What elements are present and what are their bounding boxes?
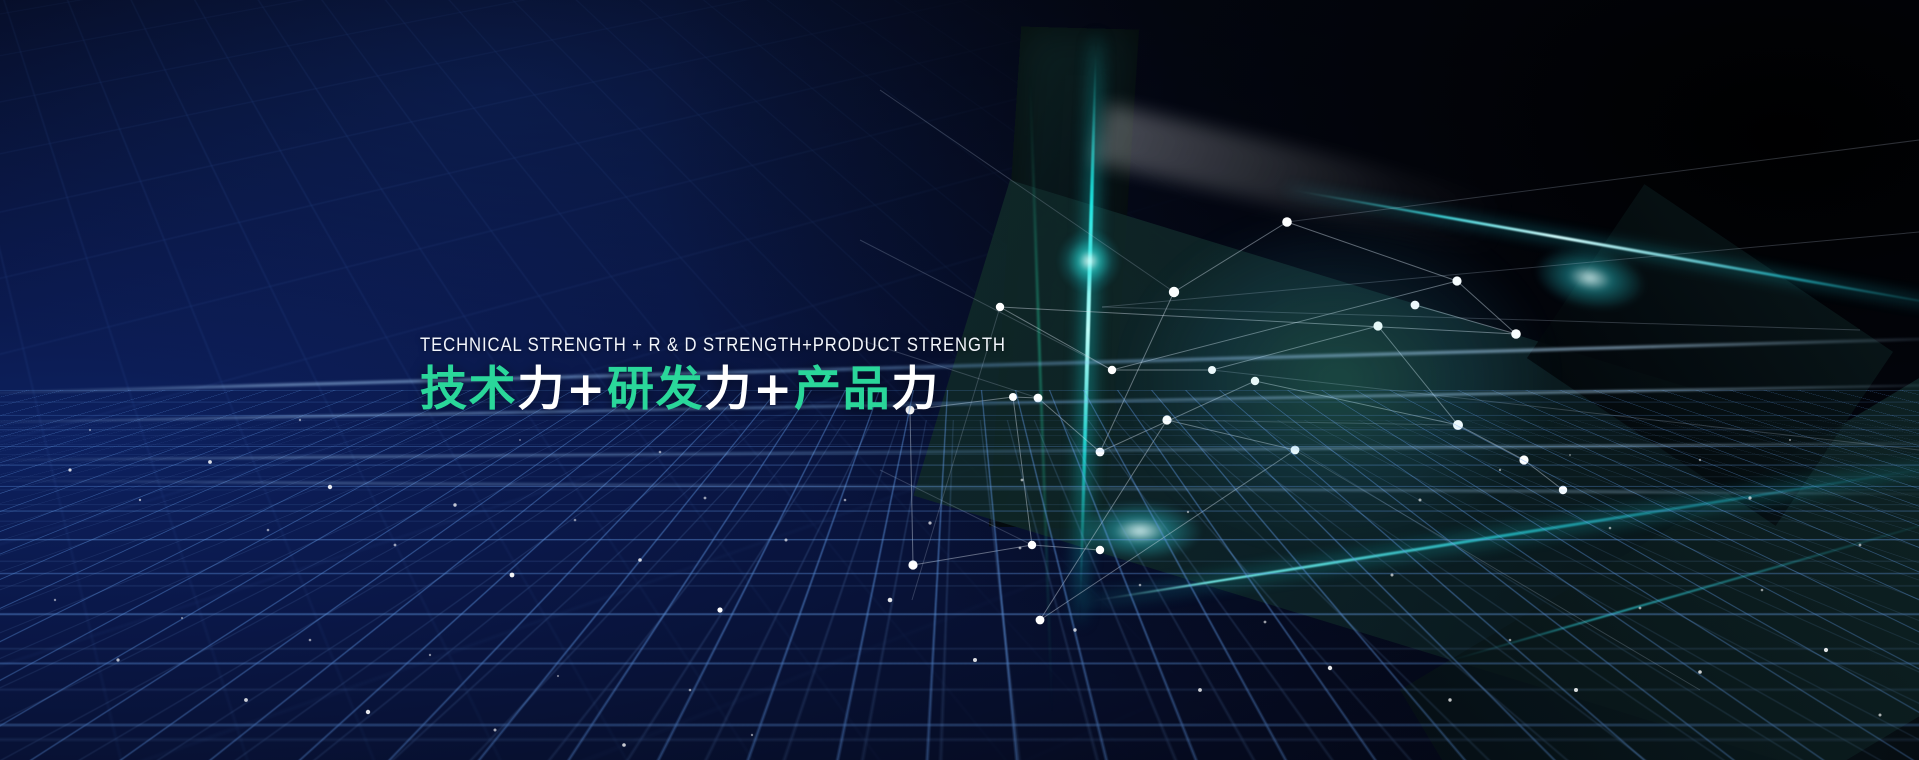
headline-segment-7: 产品 bbox=[794, 362, 891, 417]
headline-segment-3: + bbox=[566, 362, 607, 417]
headline-segment-1: 技术 bbox=[420, 362, 517, 417]
headline-segment-5: 力 bbox=[704, 362, 753, 417]
headline-copy-block: TECHNICAL STRENGTH + R & D STRENGTH+PROD… bbox=[420, 335, 1180, 417]
headline-segment-6: + bbox=[753, 362, 794, 417]
page-title: 技术力+研发力+产品力 bbox=[420, 364, 1180, 417]
hero-banner: TECHNICAL STRENGTH + R & D STRENGTH+PROD… bbox=[0, 0, 1919, 760]
headline-segment-4: 研发 bbox=[607, 362, 704, 417]
headline-segment-8: 力 bbox=[891, 362, 940, 417]
eyebrow-text: TECHNICAL STRENGTH + R & D STRENGTH+PROD… bbox=[420, 335, 1070, 356]
headline-segment-2: 力 bbox=[517, 362, 566, 417]
